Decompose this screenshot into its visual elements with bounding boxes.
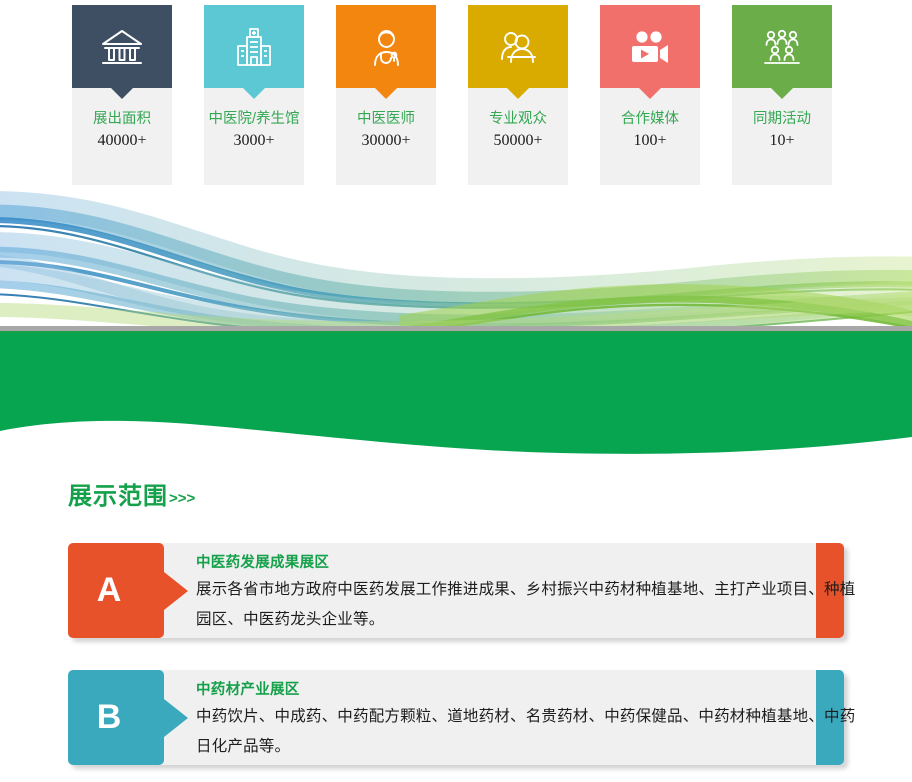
stat-card-exhibition-area: 展出面积 40000+: [72, 5, 172, 185]
scope-block-title: 中医药发展成果展区: [196, 552, 876, 574]
stat-card-header: [72, 5, 172, 88]
stat-card-header: [468, 5, 568, 88]
stat-card-pointer: [243, 88, 265, 99]
group-activity-icon: [732, 5, 832, 88]
stat-card-hospitals: 中医院/养生馆 3000+: [204, 5, 304, 185]
media-video-camera-icon: [600, 5, 700, 88]
scope-block-text: 中医药发展成果展区 展示各省市地方政府中医药发展工作推进成果、乡村振兴中药材种植…: [196, 552, 876, 635]
stat-card-value: 40000+: [72, 130, 172, 152]
scope-block-badge-letter: B: [68, 670, 150, 765]
stat-card-label: 专业观众: [468, 109, 568, 129]
stat-card-pointer: [639, 88, 661, 99]
scope-block-a[interactable]: A 中医药发展成果展区 展示各省市地方政府中医药发展工作推进成果、乡村振兴中药材…: [68, 543, 844, 638]
bank-museum-icon: [72, 5, 172, 88]
page-title-text: 展示范围: [68, 476, 168, 511]
stat-card-pointer: [375, 88, 397, 99]
scope-block-badge-letter: A: [68, 543, 150, 638]
scope-block-text: 中药材产业展区 中药饮片、中成药、中药配方颗粒、道地药材、名贵药材、中药保健品、…: [196, 679, 876, 762]
scope-block-description: 中药饮片、中成药、中药配方颗粒、道地药材、名贵药材、中药保健品、中药材种植基地、…: [196, 702, 856, 762]
stat-card-value: 10+: [732, 130, 832, 152]
stat-card-visitors: 专业观众 50000+: [468, 5, 568, 185]
stat-card-events: 同期活动 10+: [732, 5, 832, 185]
page-title: 展示范围 >>>: [68, 476, 195, 511]
stat-card-header: [732, 5, 832, 88]
stats-strip: 展出面积 40000+: [0, 0, 912, 190]
visitor-people-icon: [468, 5, 568, 88]
wave-decoration: [0, 190, 912, 330]
scope-block-b[interactable]: B 中药材产业展区 中药饮片、中成药、中药配方颗粒、道地药材、名贵药材、中药保健…: [68, 670, 844, 765]
stat-card-doctors: 中医医师 30000+: [336, 5, 436, 185]
stat-card-label: 合作媒体: [600, 109, 700, 129]
stat-card-header: [336, 5, 436, 88]
divider-rule: [0, 326, 912, 333]
stat-card-value: 30000+: [336, 130, 436, 152]
stat-card-header: [204, 5, 304, 88]
scope-block-badge: A: [68, 543, 164, 638]
stat-card-label: 同期活动: [732, 109, 832, 129]
stat-card-label: 展出面积: [72, 109, 172, 129]
scope-block-description: 展示各省市地方政府中医药发展工作推进成果、乡村振兴中药材种植基地、主打产业项目、…: [196, 575, 856, 635]
exhibition-scope-section: 展示范围 >>> A 中医药发展成果展区 展示各省市地方政府中医药发展工作推进成…: [0, 463, 912, 782]
stat-card-label: 中医医师: [336, 109, 436, 129]
arrow-right-icon: [164, 699, 188, 737]
stat-card-pointer: [771, 88, 793, 99]
stat-card-value: 3000+: [204, 130, 304, 152]
stat-card-pointer: [111, 88, 133, 99]
chevron-right-icon: >>>: [169, 490, 195, 507]
hospital-building-icon: [204, 5, 304, 88]
scope-block-badge: B: [68, 670, 164, 765]
green-curve-band: [0, 333, 912, 463]
stat-card-value: 100+: [600, 130, 700, 152]
scope-block-title: 中药材产业展区: [196, 679, 876, 701]
stat-card-label: 中医院/养生馆: [204, 109, 304, 129]
stat-card-value: 50000+: [468, 130, 568, 152]
arrow-right-icon: [164, 572, 188, 610]
doctor-stethoscope-icon: [336, 5, 436, 88]
stat-card-media: 合作媒体 100+: [600, 5, 700, 185]
stat-card-header: [600, 5, 700, 88]
stat-card-pointer: [507, 88, 529, 99]
